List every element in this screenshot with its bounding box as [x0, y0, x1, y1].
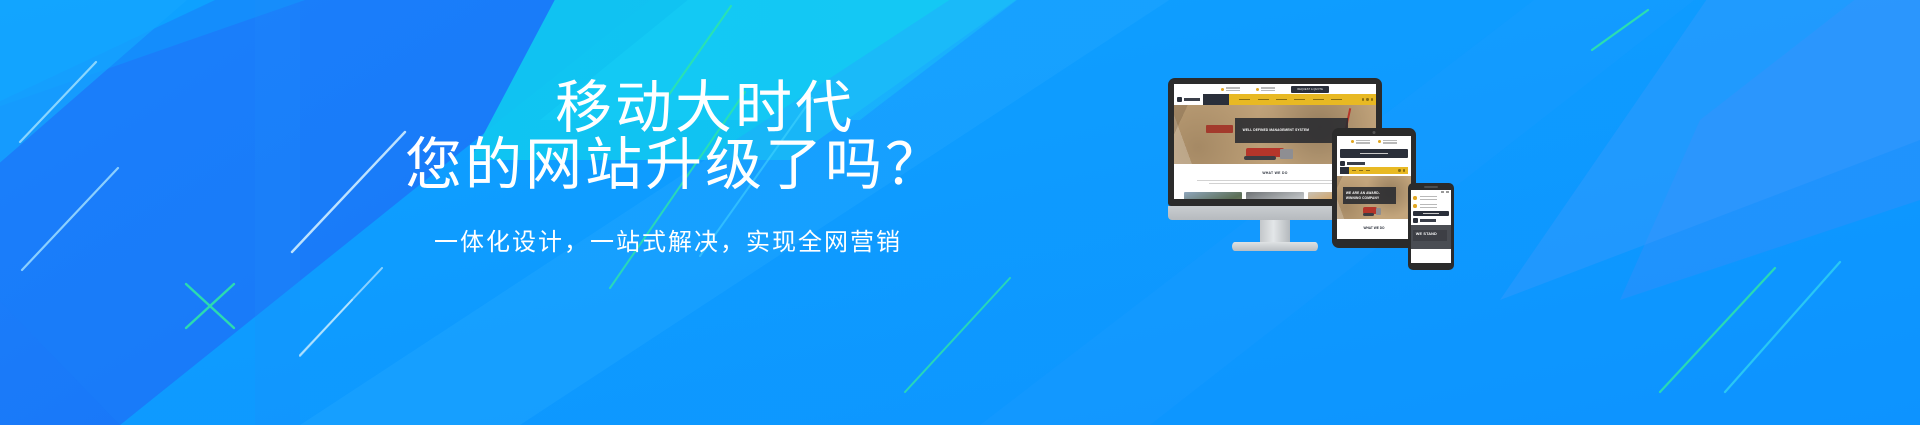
clock-icon	[1413, 204, 1417, 208]
logo-wordmark	[1184, 98, 1200, 101]
contact-lines	[1261, 87, 1275, 91]
smartphone-mockup: WE STAND	[1408, 183, 1454, 270]
site-logo[interactable]	[1337, 160, 1411, 167]
monitor-stand-base	[1232, 242, 1318, 251]
promo-banner: 移动大时代 您的网站升级了吗？ 一体化设计，一站式解决，实现全网营销	[0, 0, 1920, 425]
logo-wordmark	[1420, 219, 1436, 222]
contact-lines	[1383, 140, 1397, 144]
contact-list	[1411, 194, 1451, 209]
service-thumb-2[interactable]	[1246, 192, 1304, 199]
hero-caption-text: WE STAND	[1416, 232, 1445, 238]
camera-icon	[1373, 131, 1376, 134]
hero-caption: WELL DEFINED MANAGEMENT SYSTEM	[1235, 118, 1348, 143]
nav-items[interactable]	[1229, 99, 1362, 101]
site-topbar: REQUEST A QUOTE	[1174, 84, 1376, 94]
tablet-screen: WE ARE AN AWARD-WINNING COMPANY WHAT WE …	[1337, 136, 1411, 239]
phone-contact-1	[1351, 140, 1370, 144]
phone-icon	[1351, 140, 1354, 143]
hero-caption-text: WELL DEFINED MANAGEMENT SYSTEM	[1243, 128, 1340, 133]
bulldozer-graphic	[1241, 144, 1294, 160]
hero-caption: WE ARE AN AWARD-WINNING COMPANY	[1343, 187, 1396, 204]
contact-lines	[1226, 87, 1240, 91]
request-quote-button[interactable]: REQUEST A QUOTE	[1291, 86, 1329, 93]
contact-lines	[1356, 140, 1370, 144]
phone-icon	[1221, 88, 1224, 91]
site-navbar	[1340, 167, 1408, 174]
site-navbar	[1174, 94, 1376, 104]
phone-contact-1	[1221, 87, 1240, 91]
hero-caption-text: WE ARE AN AWARD-WINNING COMPANY	[1346, 191, 1393, 201]
contact-lines	[1420, 196, 1437, 200]
request-quote-button[interactable]	[1413, 211, 1448, 217]
phone-contact-1	[1413, 196, 1448, 200]
logo-mark-icon	[1340, 161, 1345, 166]
service-thumb-1[interactable]	[1184, 192, 1242, 199]
hero-caption: WE STAND	[1413, 230, 1447, 241]
phone-contact-2	[1413, 204, 1448, 208]
phone-screen: WE STAND	[1411, 190, 1451, 263]
nav-social-icons[interactable]	[1398, 169, 1408, 171]
speaker-grille-icon	[1424, 186, 1438, 188]
phone-icon	[1413, 196, 1417, 200]
nav-item-home[interactable]	[1203, 94, 1229, 104]
nav-social-icons[interactable]	[1362, 98, 1376, 100]
background-graphics	[0, 0, 1920, 425]
phone-bezel: WE STAND	[1408, 183, 1454, 270]
phone-contact-2	[1378, 140, 1397, 144]
site-logo[interactable]	[1411, 217, 1451, 224]
phone-website-preview: WE STAND	[1411, 190, 1451, 263]
request-quote-button[interactable]	[1340, 149, 1408, 158]
phone-contact-2	[1256, 87, 1275, 91]
site-hero: WE STAND	[1411, 225, 1451, 250]
tablet-website-preview: WE ARE AN AWARD-WINNING COMPANY WHAT WE …	[1337, 136, 1411, 239]
device-mockup-group: REQUEST A QUOTE	[1168, 78, 1588, 270]
site-topbar	[1337, 136, 1411, 147]
logo-mark-icon	[1177, 97, 1182, 102]
logo-wordmark	[1347, 162, 1365, 165]
tablet-mockup: WE ARE AN AWARD-WINNING COMPANY WHAT WE …	[1332, 128, 1416, 248]
nav-item-home[interactable]	[1340, 167, 1349, 174]
monitor-stand-neck	[1260, 220, 1290, 242]
section-title: WHAT WE DO	[1337, 219, 1411, 230]
site-logo[interactable]	[1174, 94, 1203, 104]
tablet-bezel: WE ARE AN AWARD-WINNING COMPANY WHAT WE …	[1332, 128, 1416, 248]
roller-graphic	[1361, 205, 1380, 216]
clock-icon	[1256, 88, 1259, 91]
site-hero: WE ARE AN AWARD-WINNING COMPANY	[1337, 176, 1411, 219]
logo-mark-icon	[1413, 218, 1418, 223]
dump-truck-graphic	[1206, 125, 1232, 133]
nav-items[interactable]	[1349, 170, 1398, 172]
contact-lines	[1420, 204, 1437, 208]
clock-icon	[1378, 140, 1381, 143]
background-shapes	[0, 0, 1920, 425]
